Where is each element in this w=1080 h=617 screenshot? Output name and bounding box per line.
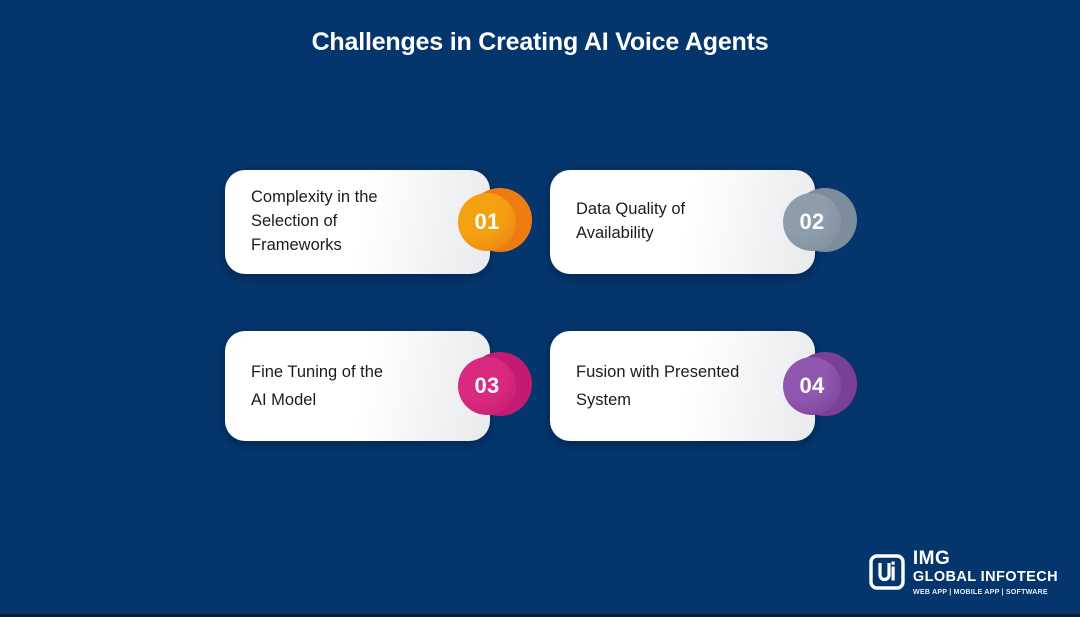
card-label: Data Quality of Availability [550, 198, 745, 246]
card-item-2: Data Quality of Availability 02 [550, 170, 815, 274]
card-item-3: Fine Tuning of the AI Model 03 [225, 331, 490, 441]
logo-text-block: IMG GLOBAL INFOTECH WEB APP | MOBILE APP… [913, 549, 1058, 595]
card-item-1: Complexity in the Selection of Framework… [225, 170, 490, 274]
card-number-badge: 04 [783, 354, 847, 418]
challenge-card[interactable]: Fusion with Presented System [550, 331, 815, 441]
card-item-4: Fusion with Presented System 04 [550, 331, 815, 441]
img-logo-mark-icon [869, 554, 905, 590]
cards-grid: Complexity in the Selection of Framework… [225, 170, 865, 441]
logo-name: IMG [913, 549, 1058, 568]
badge-number: 02 [783, 193, 841, 251]
card-label: Fusion with Presented System [550, 358, 799, 415]
card-number-badge: 01 [458, 190, 522, 254]
card-number-badge: 03 [458, 354, 522, 418]
logo-tagline: WEB APP | MOBILE APP | SOFTWARE [913, 588, 1058, 595]
company-logo: IMG GLOBAL INFOTECH WEB APP | MOBILE APP… [869, 549, 1058, 595]
badge-number: 04 [783, 357, 841, 415]
card-label: Complexity in the Selection of Framework… [225, 186, 438, 258]
cards-row-2: Fine Tuning of the AI Model 03 Fusion wi… [225, 331, 865, 441]
badge-number: 03 [458, 357, 516, 415]
card-number-badge: 02 [783, 190, 847, 254]
logo-subtitle: GLOBAL INFOTECH [913, 570, 1058, 585]
cards-row-1: Complexity in the Selection of Framework… [225, 170, 865, 274]
challenge-card[interactable]: Data Quality of Availability [550, 170, 815, 274]
challenge-card[interactable]: Fine Tuning of the AI Model [225, 331, 490, 441]
badge-number: 01 [458, 193, 516, 251]
page-title: Challenges in Creating AI Voice Agents [0, 28, 1080, 57]
challenge-card[interactable]: Complexity in the Selection of Framework… [225, 170, 490, 274]
card-label: Fine Tuning of the AI Model [225, 358, 443, 415]
